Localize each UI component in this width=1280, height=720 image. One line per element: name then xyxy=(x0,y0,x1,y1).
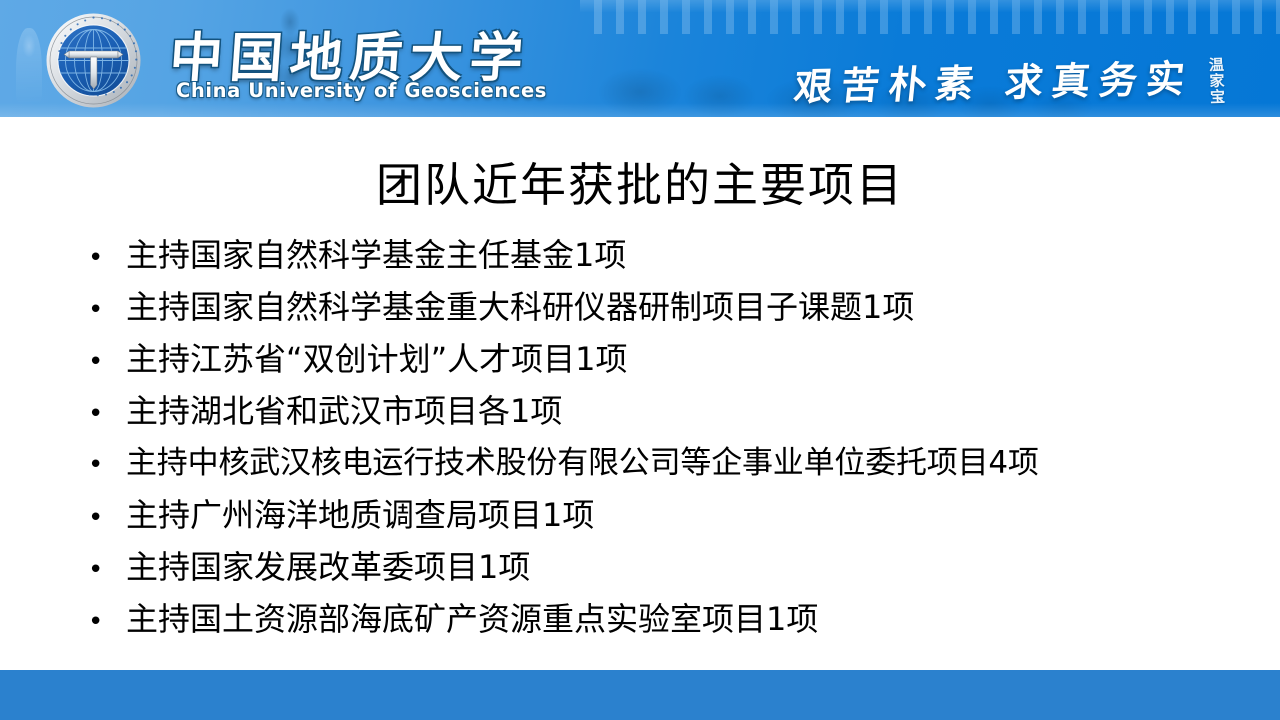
footer-bar xyxy=(0,670,1280,720)
bullet-marker-icon: • xyxy=(88,544,126,596)
list-item: • 主持国家自然科学基金主任基金1项 xyxy=(88,229,1258,281)
project-bullet-list: • 主持国家自然科学基金主任基金1项 • 主持国家自然科学基金重大科研仪器研制项… xyxy=(88,229,1258,645)
university-motto: 艰苦朴素 求真务实 xyxy=(792,48,1197,111)
bullet-marker-icon: • xyxy=(88,388,126,440)
university-emblem-icon xyxy=(45,12,142,109)
bullet-marker-icon: • xyxy=(88,439,126,491)
list-item-label: 主持广州海洋地质调查局项目1项 xyxy=(126,489,1258,541)
bullet-marker-icon: • xyxy=(88,596,126,648)
list-item-label: 主持国家自然科学基金主任基金1项 xyxy=(126,229,1258,281)
bullet-marker-icon: • xyxy=(88,232,126,284)
banner-bottom-shade xyxy=(0,103,1280,117)
page-title: 团队近年获批的主要项目 xyxy=(0,149,1280,215)
university-name-en: China University of Geosciences xyxy=(176,79,547,102)
list-item-label: 主持国家发展改革委项目1项 xyxy=(126,541,1258,593)
list-item: • 主持国家发展改革委项目1项 xyxy=(88,541,1258,593)
bullet-marker-icon: • xyxy=(88,492,126,544)
list-item-label: 主持江苏省“双创计划”人才项目1项 xyxy=(126,333,1258,385)
list-item: • 主持中核武汉核电运行技术股份有限公司等企事业单位委托项目4项 xyxy=(88,437,1258,489)
list-item: • 主持湖北省和武汉市项目各1项 xyxy=(88,385,1258,437)
motto-signature: 温家宝 xyxy=(1207,57,1227,106)
list-item: • 主持广州海洋地质调查局项目1项 xyxy=(88,489,1258,541)
list-item-label: 主持国家自然科学基金重大科研仪器研制项目子课题1项 xyxy=(126,281,1258,333)
list-item-label: 主持中核武汉核电运行技术股份有限公司等企事业单位委托项目4项 xyxy=(126,437,1258,489)
list-item: • 主持国家自然科学基金重大科研仪器研制项目子课题1项 xyxy=(88,281,1258,333)
campus-statue-silhouette xyxy=(16,28,42,102)
list-item: • 主持江苏省“双创计划”人才项目1项 xyxy=(88,333,1258,385)
list-item: • 主持国土资源部海底矿产资源重点实验室项目1项 xyxy=(88,593,1258,645)
header-banner: 中国地质大学 China University of Geosciences 艰… xyxy=(0,0,1280,117)
bullet-marker-icon: • xyxy=(88,284,126,336)
bullet-marker-icon: • xyxy=(88,336,126,388)
slide-content-area: 团队近年获批的主要项目 • 主持国家自然科学基金主任基金1项 • 主持国家自然科… xyxy=(0,117,1280,670)
list-item-label: 主持国土资源部海底矿产资源重点实验室项目1项 xyxy=(126,593,1258,645)
list-item-label: 主持湖北省和武汉市项目各1项 xyxy=(126,385,1258,437)
